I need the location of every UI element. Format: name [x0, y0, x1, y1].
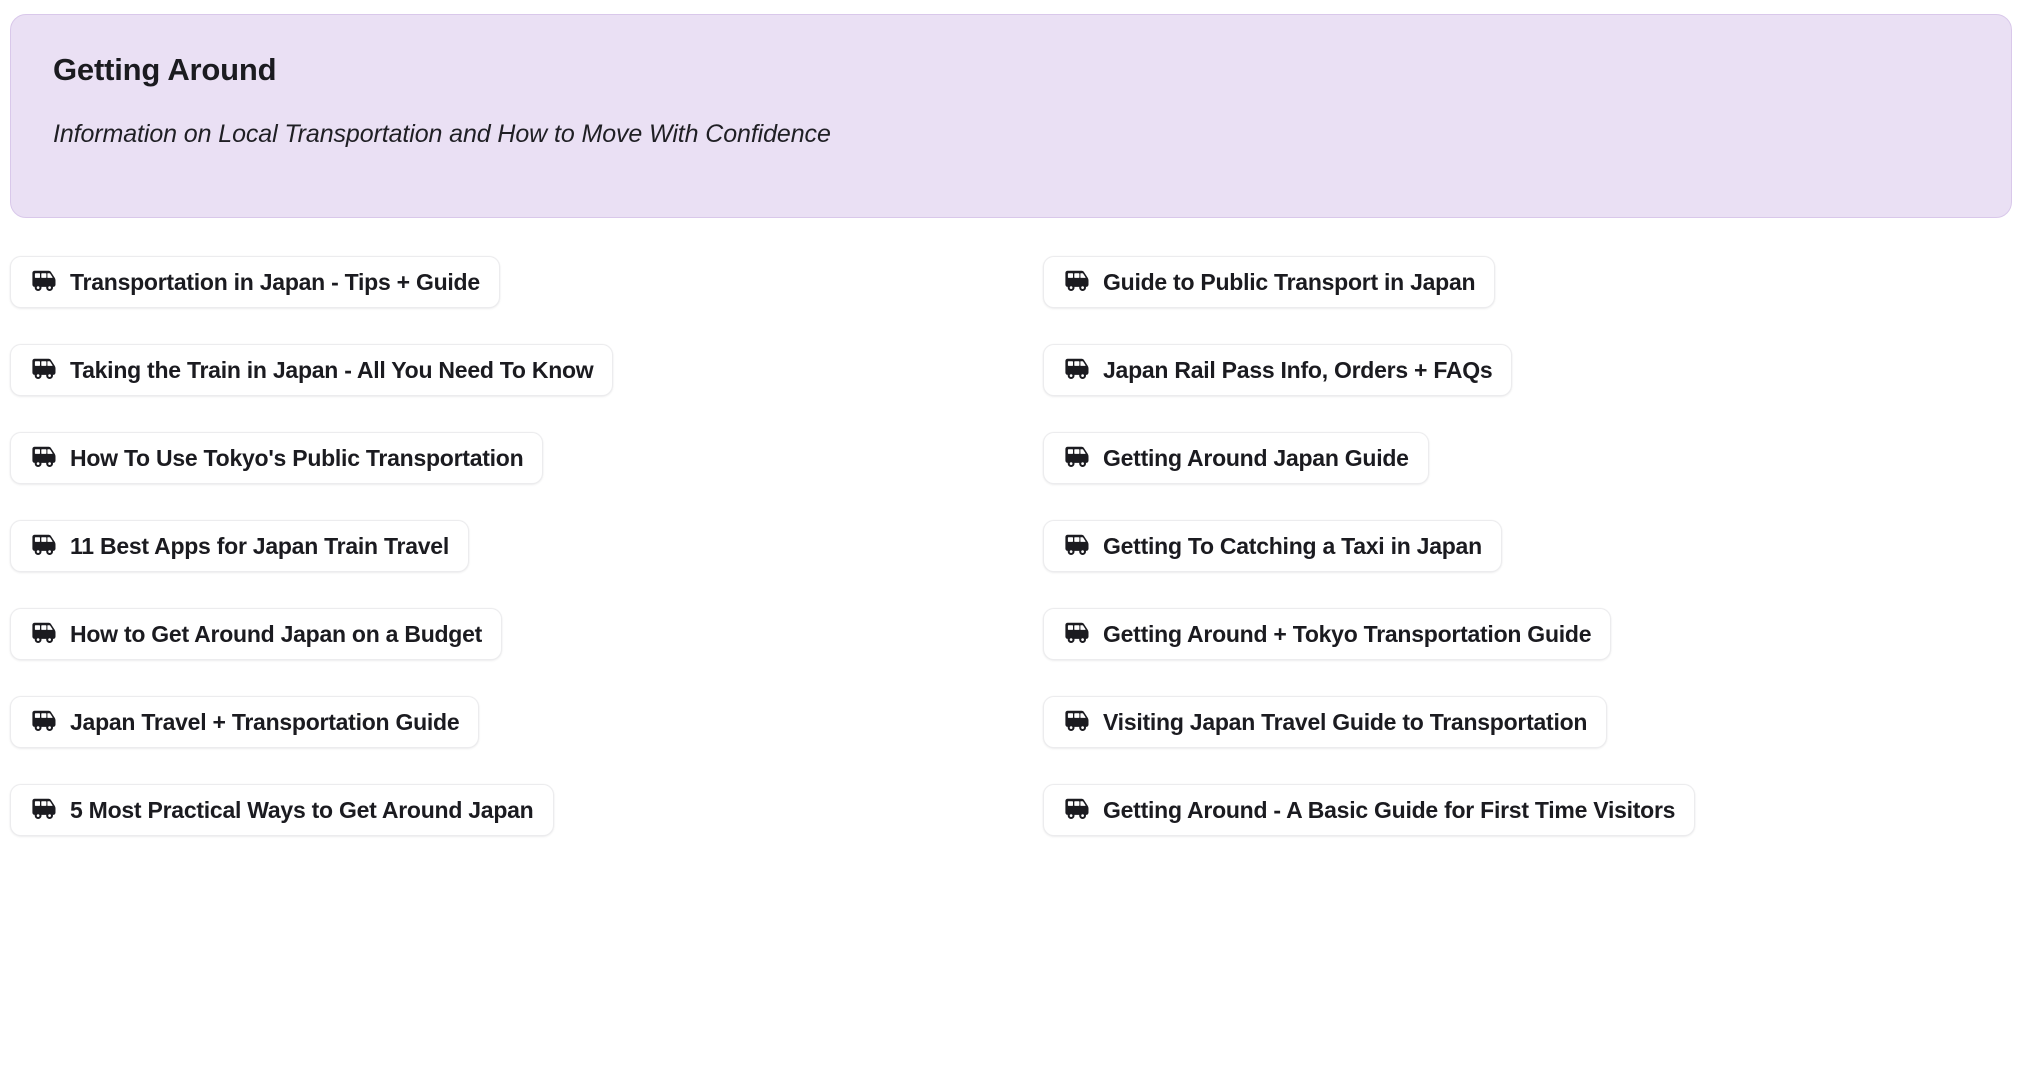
minibus-icon	[30, 534, 57, 558]
resource-chip-label: Getting Around - A Basic Guide for First…	[1103, 799, 1675, 822]
page-title: Getting Around	[53, 53, 1969, 87]
minibus-icon	[30, 710, 57, 734]
minibus-icon	[30, 798, 57, 822]
resource-chip-label: Japan Travel + Transportation Guide	[70, 711, 459, 734]
right-column: Guide to Public Transport in Japan	[1043, 256, 1695, 836]
resource-chip[interactable]: 11 Best Apps for Japan Train Travel	[10, 520, 469, 572]
minibus-icon	[30, 446, 57, 470]
resource-chip-label: Taking the Train in Japan - All You Need…	[70, 359, 593, 382]
resource-chip[interactable]: Visiting Japan Travel Guide to Transport…	[1043, 696, 1607, 748]
left-column: Transportation in Japan - Tips + Guide	[10, 256, 1043, 836]
resource-chip-label: How to Get Around Japan on a Budget	[70, 623, 482, 646]
resource-chip-label: Getting Around Japan Guide	[1103, 447, 1409, 470]
resource-chip-label: Getting To Catching a Taxi in Japan	[1103, 535, 1482, 558]
resource-chip[interactable]: Japan Travel + Transportation Guide	[10, 696, 479, 748]
resource-chip-label: Guide to Public Transport in Japan	[1103, 271, 1475, 294]
resource-chip[interactable]: Getting To Catching a Taxi in Japan	[1043, 520, 1502, 572]
section-header-banner: Getting Around Information on Local Tran…	[10, 14, 2012, 218]
resource-chip[interactable]: 5 Most Practical Ways to Get Around Japa…	[10, 784, 554, 836]
resource-chip[interactable]: Guide to Public Transport in Japan	[1043, 256, 1495, 308]
resource-chip-label: 5 Most Practical Ways to Get Around Japa…	[70, 799, 534, 822]
minibus-icon	[1063, 710, 1090, 734]
page-subtitle: Information on Local Transportation and …	[53, 119, 1969, 149]
chip-columns: Transportation in Japan - Tips + Guide	[0, 256, 2026, 836]
minibus-icon	[1063, 270, 1090, 294]
resource-chip-label: Japan Rail Pass Info, Orders + FAQs	[1103, 359, 1492, 382]
resource-chip-label: Transportation in Japan - Tips + Guide	[70, 271, 480, 294]
resource-chip[interactable]: Japan Rail Pass Info, Orders + FAQs	[1043, 344, 1512, 396]
minibus-icon	[1063, 798, 1090, 822]
resource-chip-label: 11 Best Apps for Japan Train Travel	[70, 535, 449, 558]
minibus-icon	[30, 622, 57, 646]
resource-chip-label: Getting Around + Tokyo Transportation Gu…	[1103, 623, 1591, 646]
resource-chip[interactable]: Getting Around + Tokyo Transportation Gu…	[1043, 608, 1611, 660]
resource-chip[interactable]: How to Get Around Japan on a Budget	[10, 608, 502, 660]
resource-chip[interactable]: Transportation in Japan - Tips + Guide	[10, 256, 500, 308]
resource-chip[interactable]: Getting Around - A Basic Guide for First…	[1043, 784, 1695, 836]
resource-chip-label: Visiting Japan Travel Guide to Transport…	[1103, 711, 1587, 734]
minibus-icon	[1063, 446, 1090, 470]
resource-chip[interactable]: How To Use Tokyo's Public Transportation	[10, 432, 543, 484]
minibus-icon	[30, 270, 57, 294]
resource-chip-label: How To Use Tokyo's Public Transportation	[70, 447, 523, 470]
resource-chip[interactable]: Taking the Train in Japan - All You Need…	[10, 344, 613, 396]
getting-around-page: Getting Around Information on Local Tran…	[0, 0, 2026, 1070]
minibus-icon	[1063, 534, 1090, 558]
minibus-icon	[1063, 358, 1090, 382]
minibus-icon	[30, 358, 57, 382]
minibus-icon	[1063, 622, 1090, 646]
resource-chip[interactable]: Getting Around Japan Guide	[1043, 432, 1429, 484]
